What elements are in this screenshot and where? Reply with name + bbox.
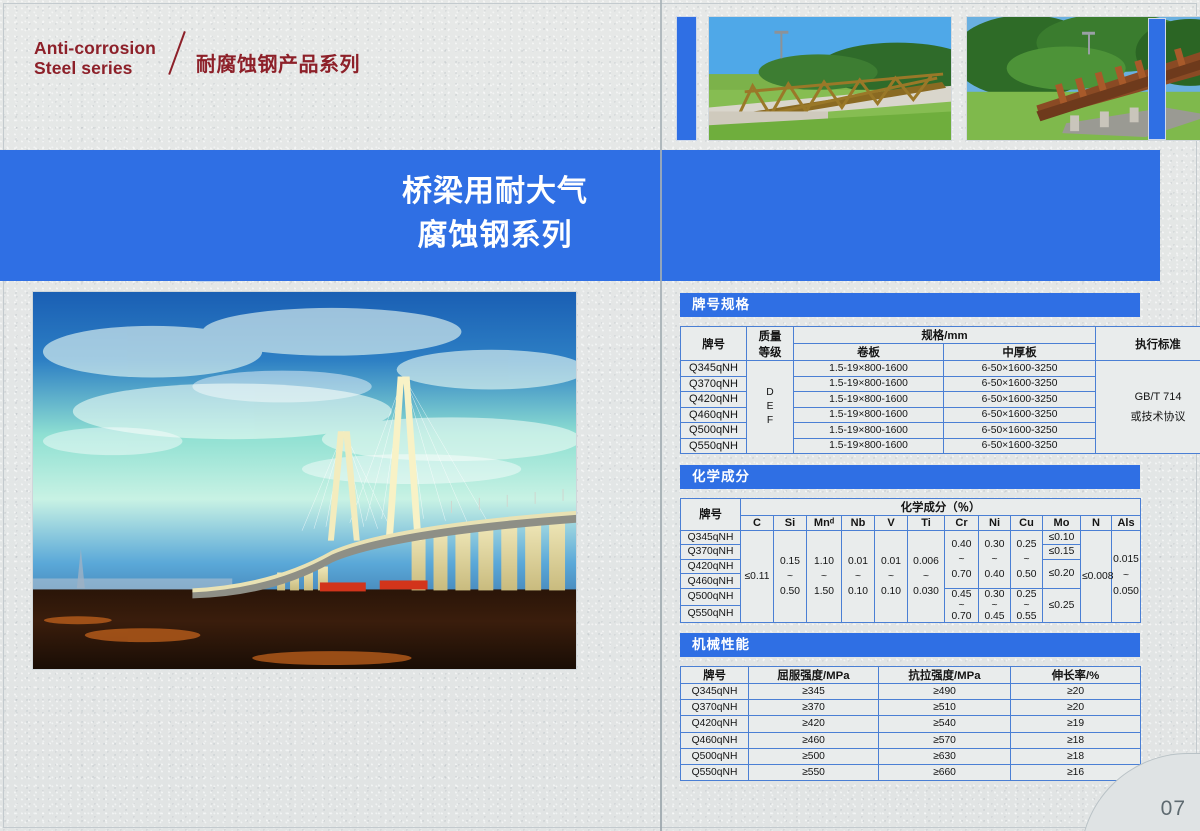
cell-elongation: ≥20 (1011, 684, 1141, 700)
cell-brand: Q420qNH (681, 716, 749, 732)
cell-Als-min: 0.015 (1113, 552, 1139, 568)
cell-coil: 1.5-19×800-1600 (794, 438, 944, 454)
cell-Ti-max: 0.030 (909, 584, 943, 599)
cell-Als-max: 0.050 (1113, 584, 1139, 600)
cell-Ni-b: 0.30 ~ 0.45 (979, 588, 1011, 622)
cell-quality-grades: D E F (747, 361, 794, 454)
title-line-2: 腐蚀钢系列 (390, 214, 600, 258)
th-brand: 牌号 (681, 327, 747, 361)
standard-line1: GB/T 714 (1097, 387, 1200, 407)
th-element-V: V (875, 516, 908, 531)
cell-Si-tilde: ~ (775, 569, 805, 584)
cell-Cr-a: 0.40 ~ 0.70 (945, 530, 979, 588)
th-quality-line2: 等级 (748, 344, 792, 360)
cell-Mo-row34: ≤0.20 (1043, 559, 1081, 588)
cell-elongation: ≥18 (1011, 732, 1141, 748)
cell-tensile: ≥570 (879, 732, 1011, 748)
cell-V: 0.01 ~ 0.10 (875, 530, 908, 622)
table-row: Q345qNH ≥345 ≥490 ≥20 (681, 684, 1141, 700)
th-element-Nb: Nb (842, 516, 875, 531)
cell-Cr-a-min: 0.40 (946, 537, 977, 552)
table-mechanical: 牌号 屈服强度/MPa 抗拉强度/MPa 伸长率/% Q345qNH ≥345 … (680, 666, 1141, 781)
table-row: Q345qNH D E F 1.5-19×800-1600 6-50×1600-… (681, 361, 1200, 377)
cell-coil: 1.5-19×800-1600 (794, 376, 944, 392)
table-row-header: 牌号 质量 等级 规格/mm 执行标准 (681, 327, 1200, 344)
table-row-subheader: C Si Mnᵈ Nb V Ti Cr Ni Cu Mo N Als (681, 516, 1141, 531)
cell-brand: Q460qNH (681, 407, 747, 423)
brand-english: Anti-corrosion Steel series (34, 39, 156, 78)
cell-Cr-b-max: 0.70 (946, 611, 977, 622)
cell-N: ≤0.008 (1081, 530, 1112, 622)
cell-elongation: ≥20 (1011, 700, 1141, 716)
cell-Si-min: 0.15 (775, 554, 805, 569)
page-number: 07 (1161, 797, 1186, 821)
brand-header: Anti-corrosion Steel series 耐腐蚀钢产品系列 (34, 32, 360, 78)
th-element-N: N (1081, 516, 1112, 531)
th-tensile-strength: 抗拉强度/MPa (879, 667, 1011, 684)
th-brand: 牌号 (681, 667, 749, 684)
standard-line2: 或技术协议 (1097, 407, 1200, 427)
th-element-Als: Als (1112, 516, 1141, 531)
cell-Mo-row56: ≤0.25 (1043, 588, 1081, 622)
cell-plate: 6-50×1600-3250 (944, 392, 1096, 408)
title-line-1: 桥梁用耐大气 (390, 170, 600, 214)
section-heading-specification: 牌号规格 (680, 293, 1140, 317)
th-element-Ti: Ti (908, 516, 945, 531)
hero-bridge-photo (32, 291, 577, 670)
cell-yield: ≥420 (749, 716, 879, 732)
brand-chinese: 耐腐蚀钢产品系列 (196, 54, 360, 78)
cell-yield: ≥345 (749, 684, 879, 700)
strip-accent-bar-right (1148, 18, 1166, 140)
cell-Ni-b-max: 0.45 (980, 611, 1009, 622)
cell-Cr-a-tilde: ~ (946, 552, 977, 567)
cell-brand: Q345qNH (681, 361, 747, 377)
cell-tensile: ≥630 (879, 748, 1011, 764)
cell-brand: Q500qNH (681, 588, 741, 605)
cell-Mo-row2: ≤0.15 (1043, 545, 1081, 560)
table-row-header: 牌号 化学成分（％） (681, 499, 1141, 516)
th-standard: 执行标准 (1096, 327, 1200, 361)
cell-Ni-a-tilde: ~ (980, 552, 1009, 567)
cell-Cr-a-max: 0.70 (946, 567, 977, 582)
strip-photo-1 (708, 16, 952, 141)
cell-coil: 1.5-19×800-1600 (794, 392, 944, 408)
cell-Als: 0.015 ~ 0.050 (1112, 530, 1141, 622)
th-yield-strength: 屈服强度/MPa (749, 667, 879, 684)
strip-accent-bar-left (676, 16, 697, 141)
th-element-Si: Si (774, 516, 807, 531)
cell-coil: 1.5-19×800-1600 (794, 407, 944, 423)
cell-plate: 6-50×1600-3250 (944, 376, 1096, 392)
cell-Cu-a-max: 0.50 (1012, 567, 1041, 582)
cell-Cr-b: 0.45 ~ 0.70 (945, 588, 979, 622)
cell-plate: 6-50×1600-3250 (944, 361, 1096, 377)
cell-Als-tilde: ~ (1113, 568, 1139, 584)
th-element-Mn: Mnᵈ (807, 516, 842, 531)
table-chemical: 牌号 化学成分（％） C Si Mnᵈ Nb V Ti Cr Ni Cu Mo … (680, 498, 1141, 623)
cell-brand: Q460qNH (681, 732, 749, 748)
th-elongation: 伸长率/% (1011, 667, 1141, 684)
table-row: Q550qNH ≥550 ≥660 ≥16 (681, 764, 1141, 780)
cell-Mn: 1.10 ~ 1.50 (807, 530, 842, 622)
cell-coil: 1.5-19×800-1600 (794, 423, 944, 439)
cell-brand: Q370qNH (681, 376, 747, 392)
cell-yield: ≥550 (749, 764, 879, 780)
section-specification: 牌号规格 牌号 质量 等级 规格/mm 执行标准 卷板 中厚板 Q345qNH … (680, 293, 1140, 454)
cell-Cu-b: 0.25 ~ 0.55 (1011, 588, 1043, 622)
section-heading-mechanical: 机械性能 (680, 633, 1140, 657)
cell-Ti-tilde: ~ (909, 569, 943, 584)
table-row-header: 牌号 屈服强度/MPa 抗拉强度/MPa 伸长率/% (681, 667, 1141, 684)
cell-brand: Q420qNH (681, 392, 747, 408)
brand-en-line2: Steel series (34, 59, 156, 79)
th-plate: 中厚板 (944, 344, 1096, 361)
cell-Nb-min: 0.01 (843, 554, 873, 569)
cell-brand: Q550qNH (681, 438, 747, 454)
cell-Cu-b-min: 0.25 (1012, 589, 1041, 600)
table-row: Q460qNH ≥460 ≥570 ≥18 (681, 732, 1141, 748)
section-heading-chemical: 化学成分 (680, 465, 1140, 489)
page-gutter-divider (660, 0, 662, 831)
cell-Ni-b-min: 0.30 (980, 589, 1009, 600)
cell-Mn-max: 1.50 (808, 584, 840, 599)
cell-tensile: ≥660 (879, 764, 1011, 780)
cell-plate: 6-50×1600-3250 (944, 438, 1096, 454)
slash-divider-icon (164, 32, 194, 78)
cell-brand: Q420qNH (681, 559, 741, 574)
cell-brand: Q370qNH (681, 700, 749, 716)
cell-Cr-b-min: 0.45 (946, 589, 977, 600)
cell-V-tilde: ~ (876, 569, 906, 584)
cell-Nb-tilde: ~ (843, 569, 873, 584)
brand-en-line1: Anti-corrosion (34, 39, 156, 59)
cell-yield: ≥500 (749, 748, 879, 764)
cell-Cu-a-tilde: ~ (1012, 552, 1041, 567)
cell-Cu-b-max: 0.55 (1012, 611, 1041, 622)
cell-Mo-row1: ≤0.10 (1043, 530, 1081, 545)
th-quality-grade: 质量 等级 (747, 327, 794, 361)
table-row: Q345qNH ≤0.11 0.15 ~ 0.50 1.10 ~ 1.50 0.… (681, 530, 1141, 545)
cell-Ni-a-min: 0.30 (980, 537, 1009, 552)
cell-Cr-b-tilde: ~ (946, 600, 977, 611)
th-element-Cr: Cr (945, 516, 979, 531)
cell-brand: Q460qNH (681, 574, 741, 589)
cell-tensile: ≥540 (879, 716, 1011, 732)
cell-Ni-a-max: 0.40 (980, 567, 1009, 582)
cell-Mn-tilde: ~ (808, 569, 840, 584)
cell-elongation: ≥19 (1011, 716, 1141, 732)
th-brand: 牌号 (681, 499, 741, 531)
cell-Si: 0.15 ~ 0.50 (774, 530, 807, 622)
table-row: Q370qNH ≥370 ≥510 ≥20 (681, 700, 1141, 716)
cell-brand: Q345qNH (681, 684, 749, 700)
cell-Ti: 0.006 ~ 0.030 (908, 530, 945, 622)
table-row: Q420qNH ≥420 ≥540 ≥19 (681, 716, 1141, 732)
cell-standard: GB/T 714 或技术协议 (1096, 361, 1200, 454)
cell-plate: 6-50×1600-3250 (944, 407, 1096, 423)
cell-brand: Q370qNH (681, 545, 741, 560)
cell-Cu-a: 0.25 ~ 0.50 (1011, 530, 1043, 588)
cell-Cu-a-min: 0.25 (1012, 537, 1041, 552)
cell-coil: 1.5-19×800-1600 (794, 361, 944, 377)
cell-Nb-max: 0.10 (843, 584, 873, 599)
cell-brand: Q500qNH (681, 423, 747, 439)
cell-Ni-a: 0.30 ~ 0.40 (979, 530, 1011, 588)
cell-C: ≤0.11 (741, 530, 774, 622)
th-element-Ni: Ni (979, 516, 1011, 531)
th-element-Cu: Cu (1011, 516, 1043, 531)
cell-tensile: ≥490 (879, 684, 1011, 700)
cell-yield: ≥460 (749, 732, 879, 748)
cell-Cu-b-tilde: ~ (1012, 600, 1041, 611)
th-spec-group: 规格/mm (794, 327, 1096, 344)
cell-Ti-min: 0.006 (909, 554, 943, 569)
th-element-Mo: Mo (1043, 516, 1081, 531)
table-row: Q500qNH ≥500 ≥630 ≥18 (681, 748, 1141, 764)
cell-V-min: 0.01 (876, 554, 906, 569)
cell-brand: Q500qNH (681, 748, 749, 764)
th-quality-line1: 质量 (748, 328, 792, 344)
section-chemical: 化学成分 牌号 化学成分（％） C Si Mnᵈ Nb V Ti Cr Ni C… (680, 465, 1140, 623)
cell-brand: Q345qNH (681, 530, 741, 545)
cell-plate: 6-50×1600-3250 (944, 423, 1096, 439)
cell-Si-max: 0.50 (775, 584, 805, 599)
table-specification: 牌号 质量 等级 规格/mm 执行标准 卷板 中厚板 Q345qNH D E F… (680, 326, 1200, 454)
cell-Ni-b-tilde: ~ (980, 600, 1009, 611)
cell-brand: Q550qNH (681, 764, 749, 780)
th-coil: 卷板 (794, 344, 944, 361)
cell-tensile: ≥510 (879, 700, 1011, 716)
title-band-text: 桥梁用耐大气 腐蚀钢系列 (390, 170, 600, 258)
cell-Nb: 0.01 ~ 0.10 (842, 530, 875, 622)
cell-brand: Q550qNH (681, 605, 741, 622)
cell-V-max: 0.10 (876, 584, 906, 599)
section-mechanical: 机械性能 牌号 屈服强度/MPa 抗拉强度/MPa 伸长率/% Q345qNH … (680, 633, 1140, 781)
th-chem-group: 化学成分（％） (741, 499, 1141, 516)
cell-Mn-min: 1.10 (808, 554, 840, 569)
cell-yield: ≥370 (749, 700, 879, 716)
th-element-C: C (741, 516, 774, 531)
